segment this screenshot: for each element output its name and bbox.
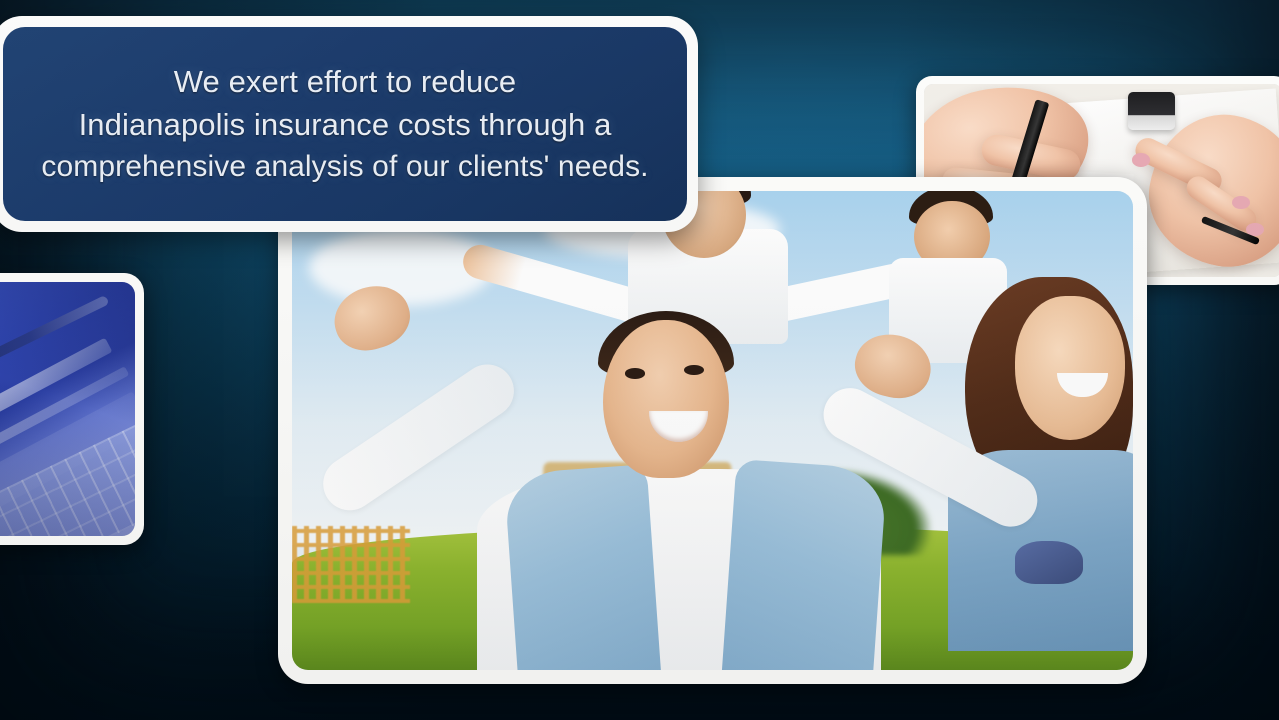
mobile-phone [1128,92,1175,131]
photo-shading [0,282,135,536]
callout-line-1: We exert effort to reduce [13,60,677,103]
man-head [603,320,729,478]
documents-photo [0,282,135,536]
photo-card-documents[interactable]: Blue-tinted close-up of insurance paperw… [0,273,144,545]
photo-card-family[interactable]: Smiling man with a boy on his shoulders … [278,177,1147,684]
woman-face [1015,296,1124,440]
family-photo [292,191,1133,670]
man-eye [625,368,645,379]
message-callout[interactable]: We exert effort to reduce Indianapolis i… [0,16,698,232]
callout-line-2: Indianapolis insurance costs through a [13,103,677,146]
documents-scene [0,282,135,536]
family-scene [292,191,1133,670]
man-denim-right [722,459,888,670]
man-denim-left [503,464,660,670]
fence [292,526,410,603]
toddler-shoe [1015,541,1082,584]
message-callout-body: We exert effort to reduce Indianapolis i… [3,27,687,221]
slide-stage: Blue-tinted close-up of insurance paperw… [0,0,1279,720]
fingernail [1132,153,1150,167]
message-callout-text: We exert effort to reduce Indianapolis i… [3,60,687,189]
callout-line-3: comprehensive analysis of our clients' n… [13,146,677,188]
